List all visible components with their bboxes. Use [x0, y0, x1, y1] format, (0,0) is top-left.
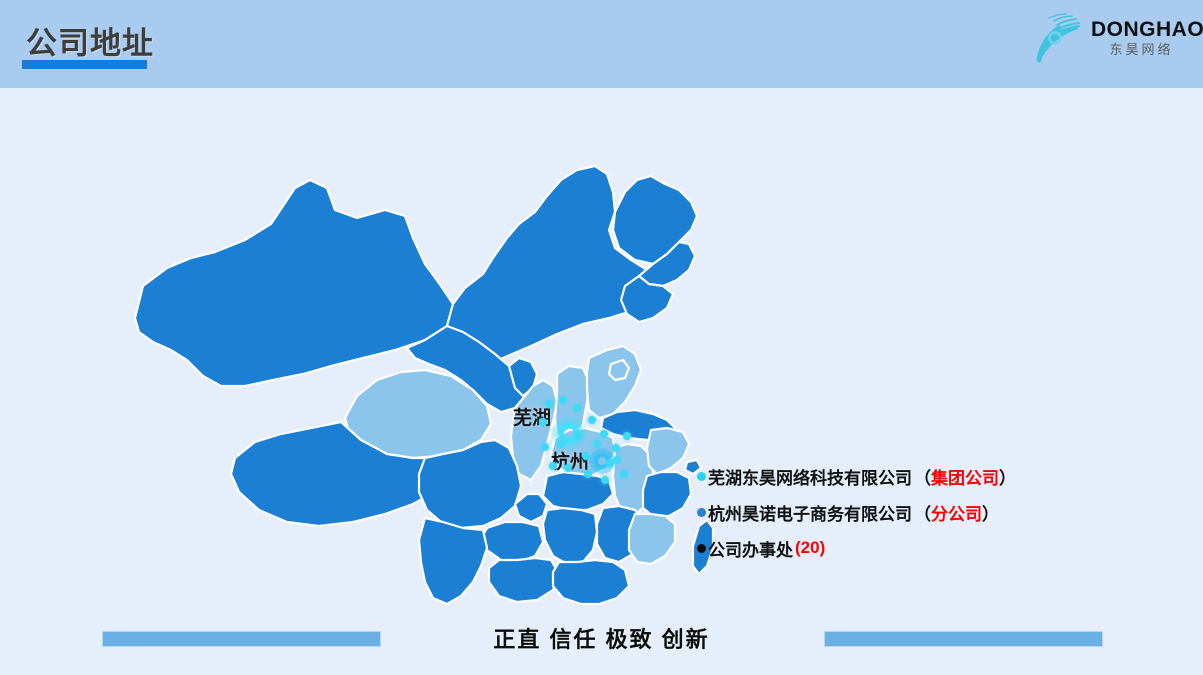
office-dot [539, 418, 547, 426]
map-label-wuhu: 芜湖 [513, 403, 551, 430]
region-guangxi [489, 558, 559, 602]
office-dot [541, 443, 549, 451]
region-hebei [587, 346, 641, 418]
legend-bullet-icon [697, 544, 706, 553]
office-dot [623, 432, 631, 440]
legend-tag-highlight: 集团公司 [931, 469, 999, 488]
region-fujian [629, 514, 675, 564]
legend: 芜湖东昊网络科技有限公司 （集团公司） 杭州昊诺电子商务有限公司 （分公司） 公… [697, 458, 1117, 566]
office-dot [573, 404, 581, 412]
footer-bar-right [824, 631, 1103, 647]
region-yunnan [419, 518, 487, 604]
china-map [95, 118, 715, 608]
legend-label: 杭州昊诺电子商务有限公司 [708, 500, 912, 525]
office-dot [557, 440, 565, 448]
office-dot [593, 440, 601, 448]
region-guizhou [481, 522, 543, 562]
legend-bullet-icon [697, 508, 706, 517]
legend-item-offices: 公司办事处 (20) [697, 530, 1117, 566]
logo-text: DONGHAO 东昊网络 [1091, 18, 1189, 58]
fan-wing-icon [1029, 8, 1091, 70]
office-dot [564, 464, 572, 472]
logo-name-en: DONGHAO [1091, 18, 1189, 41]
legend-item-branch-company: 杭州昊诺电子商务有限公司 （分公司） [697, 494, 1117, 530]
legend-tag-highlight: 分公司 [931, 505, 982, 524]
office-dot [588, 416, 596, 424]
legend-tag: （集团公司） [914, 464, 1016, 489]
region-hunan [543, 508, 597, 564]
slide-canvas: 公司地址 DONGHAO [0, 0, 1203, 675]
office-dot [601, 476, 609, 484]
office-dot [549, 462, 557, 470]
region-xinjiang [135, 180, 453, 386]
logo-name-cn: 东昊网络 [1091, 41, 1189, 58]
legend-label: 芜湖东昊网络科技有限公司 [708, 464, 912, 489]
legend-bullet-icon [697, 472, 706, 481]
office-dot [584, 470, 592, 478]
header-band [0, 0, 1203, 88]
region-jiangsu [647, 428, 689, 474]
office-dot [620, 470, 628, 478]
region-beijing [609, 360, 629, 380]
page-title: 公司地址 [26, 18, 154, 63]
legend-tag-open: （ [914, 469, 931, 488]
legend-tag: (20) [795, 538, 825, 558]
office-dot [575, 432, 583, 440]
office-dot [545, 400, 553, 408]
legend-tag-close: ） [999, 469, 1016, 488]
office-dot [612, 444, 620, 452]
office-dot [582, 452, 590, 460]
legend-tag: （分公司） [914, 500, 999, 525]
office-dot [600, 430, 608, 438]
title-underline-accent [22, 60, 147, 69]
legend-tag-open: （ [914, 505, 931, 524]
region-guangdong [553, 560, 629, 604]
company-logo: DONGHAO 东昊网络 [1029, 6, 1189, 74]
legend-item-group-company: 芜湖东昊网络科技有限公司 （集团公司） [697, 458, 1117, 494]
office-dot [559, 396, 567, 404]
office-dot [613, 456, 621, 464]
region-zhejiang [643, 472, 691, 516]
legend-tag-highlight: (20) [795, 538, 825, 557]
region-chongqing [515, 494, 547, 522]
legend-tag-close: ） [982, 505, 999, 524]
legend-label: 公司办事处 [708, 536, 793, 561]
